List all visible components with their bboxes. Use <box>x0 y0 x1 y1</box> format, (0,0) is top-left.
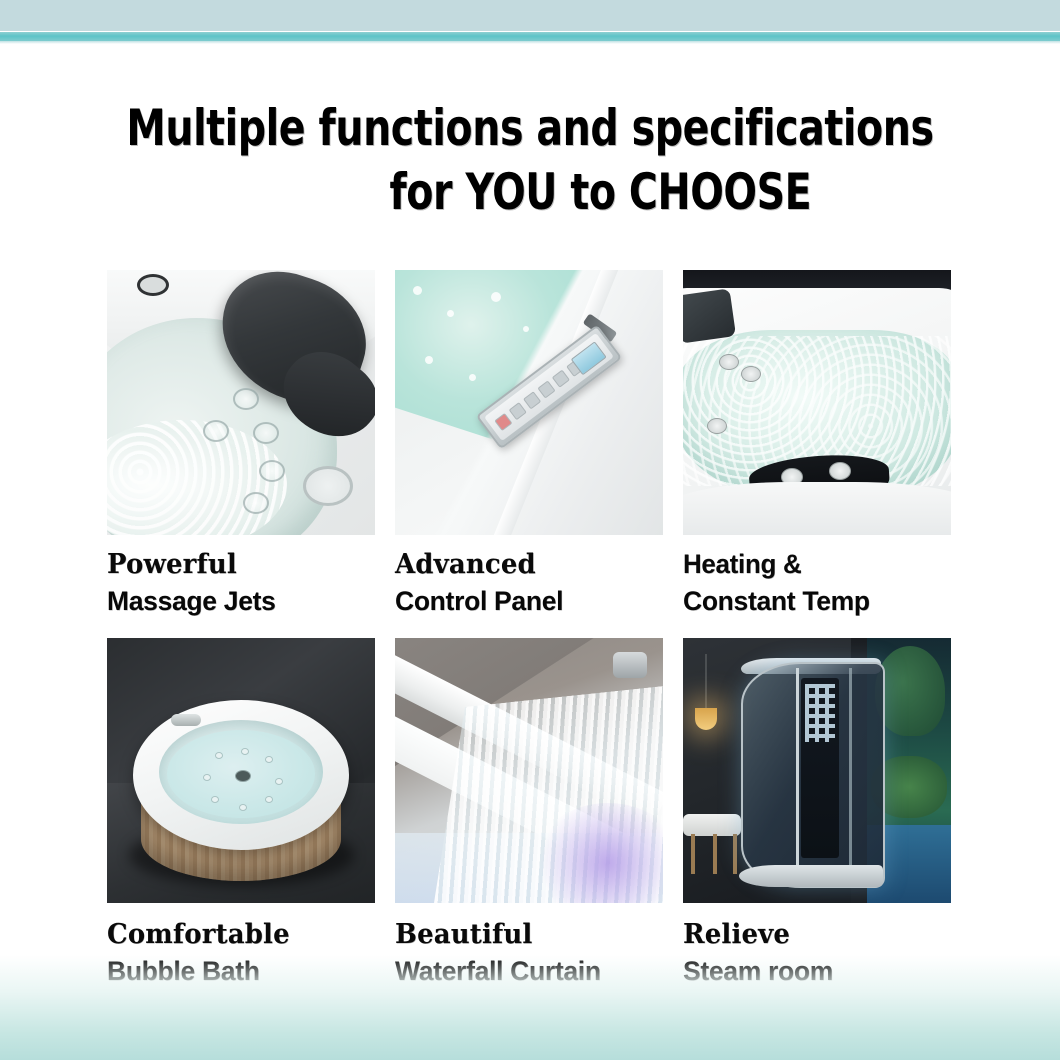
caption-line-1: Relieve <box>683 917 940 952</box>
caption-line-1: Powerful <box>107 547 364 582</box>
bottom-gradient-band <box>0 955 1060 1060</box>
page-title: Multiple functions and specifications fo… <box>0 96 1060 224</box>
power-button-icon <box>494 413 512 431</box>
air-jet-icon <box>265 756 273 763</box>
tree-shape <box>875 646 945 736</box>
air-jet-icon <box>275 778 283 785</box>
caption-line-2: Massage Jets <box>107 582 370 620</box>
top-accent-rule <box>0 32 1060 41</box>
waterfall-curtain-photo <box>395 638 663 903</box>
caption-control-panel: Advanced Control Panel <box>395 535 663 638</box>
pendant-lamp-icon <box>695 708 717 730</box>
feature-grid: Powerful Massage Jets <box>107 270 953 1008</box>
tub-front-panel-shape <box>683 482 951 535</box>
air-jet-icon <box>203 774 211 781</box>
table-leg-shape <box>733 834 737 874</box>
drain-icon <box>235 770 251 782</box>
caption-massage-jets: Powerful Massage Jets <box>107 535 375 638</box>
table-leg-shape <box>691 834 695 874</box>
control-panel-photo <box>395 270 663 535</box>
drain-icon <box>303 466 353 506</box>
top-banner-band <box>0 0 1060 31</box>
jet-nozzle-icon <box>253 422 279 444</box>
panel-button-icon <box>508 402 526 420</box>
jet-nozzle-icon <box>243 492 269 514</box>
bubble-bath-photo <box>107 638 375 903</box>
jet-nozzle-icon <box>707 418 727 434</box>
caption-line-2: Constant Temp <box>683 582 946 620</box>
waterfall-spout-icon <box>613 652 647 678</box>
headrest-icon <box>683 288 736 343</box>
feature-card-steam-room[interactable]: Relieve Steam room <box>683 638 951 1008</box>
massage-jets-photo <box>107 270 375 535</box>
caption-line-2: Control Panel <box>395 582 658 620</box>
caption-line-1: Beautiful <box>395 917 652 952</box>
body-jets-icon <box>805 684 835 742</box>
feature-card-control-panel[interactable]: Advanced Control Panel <box>395 270 663 638</box>
heading-line-2: for YOU to CHOOSE <box>64 160 997 224</box>
feature-card-bubble-bath[interactable]: Comfortable Bubble Bath <box>107 638 375 1008</box>
caption-line-1: Advanced <box>395 547 652 582</box>
jet-nozzle-icon <box>741 366 761 382</box>
heating-tub-photo <box>683 270 951 535</box>
jet-nozzle-icon <box>829 462 851 480</box>
air-jet-icon <box>211 796 219 803</box>
air-jet-icon <box>265 796 273 803</box>
jet-nozzle-icon <box>203 420 229 442</box>
air-jet-icon <box>239 804 247 811</box>
cabin-frame-shape <box>796 668 799 878</box>
caption-heating: Heating & Constant Temp <box>683 535 951 638</box>
panel-button-icon <box>537 380 555 398</box>
feature-card-massage-jets[interactable]: Powerful Massage Jets <box>107 270 375 638</box>
heading-line-1: Multiple functions and specifications <box>64 96 997 160</box>
faucet-icon <box>171 714 201 726</box>
caption-line-1: Heating & <box>683 547 940 582</box>
table-leg-shape <box>713 834 717 874</box>
caption-line-1: Comfortable <box>107 917 364 952</box>
air-jet-icon <box>241 748 249 755</box>
panel-button-icon <box>523 391 541 409</box>
feature-card-waterfall[interactable]: Beautiful Waterfall Curtain <box>395 638 663 1008</box>
side-table-shape <box>683 814 741 836</box>
jet-nozzle-icon <box>259 460 285 482</box>
pendant-cord-shape <box>705 654 707 710</box>
panel-button-icon <box>551 369 569 387</box>
feature-card-heating[interactable]: Heating & Constant Temp <box>683 270 951 638</box>
control-knob-icon <box>137 274 169 296</box>
top-accent-rule-shadow <box>0 41 1060 44</box>
jet-nozzle-icon <box>233 388 259 410</box>
air-jet-icon <box>215 752 223 759</box>
cabin-base-shape <box>739 865 883 887</box>
jet-nozzle-icon <box>719 354 739 370</box>
cabin-frame-shape <box>849 668 852 878</box>
steam-room-photo <box>683 638 951 903</box>
